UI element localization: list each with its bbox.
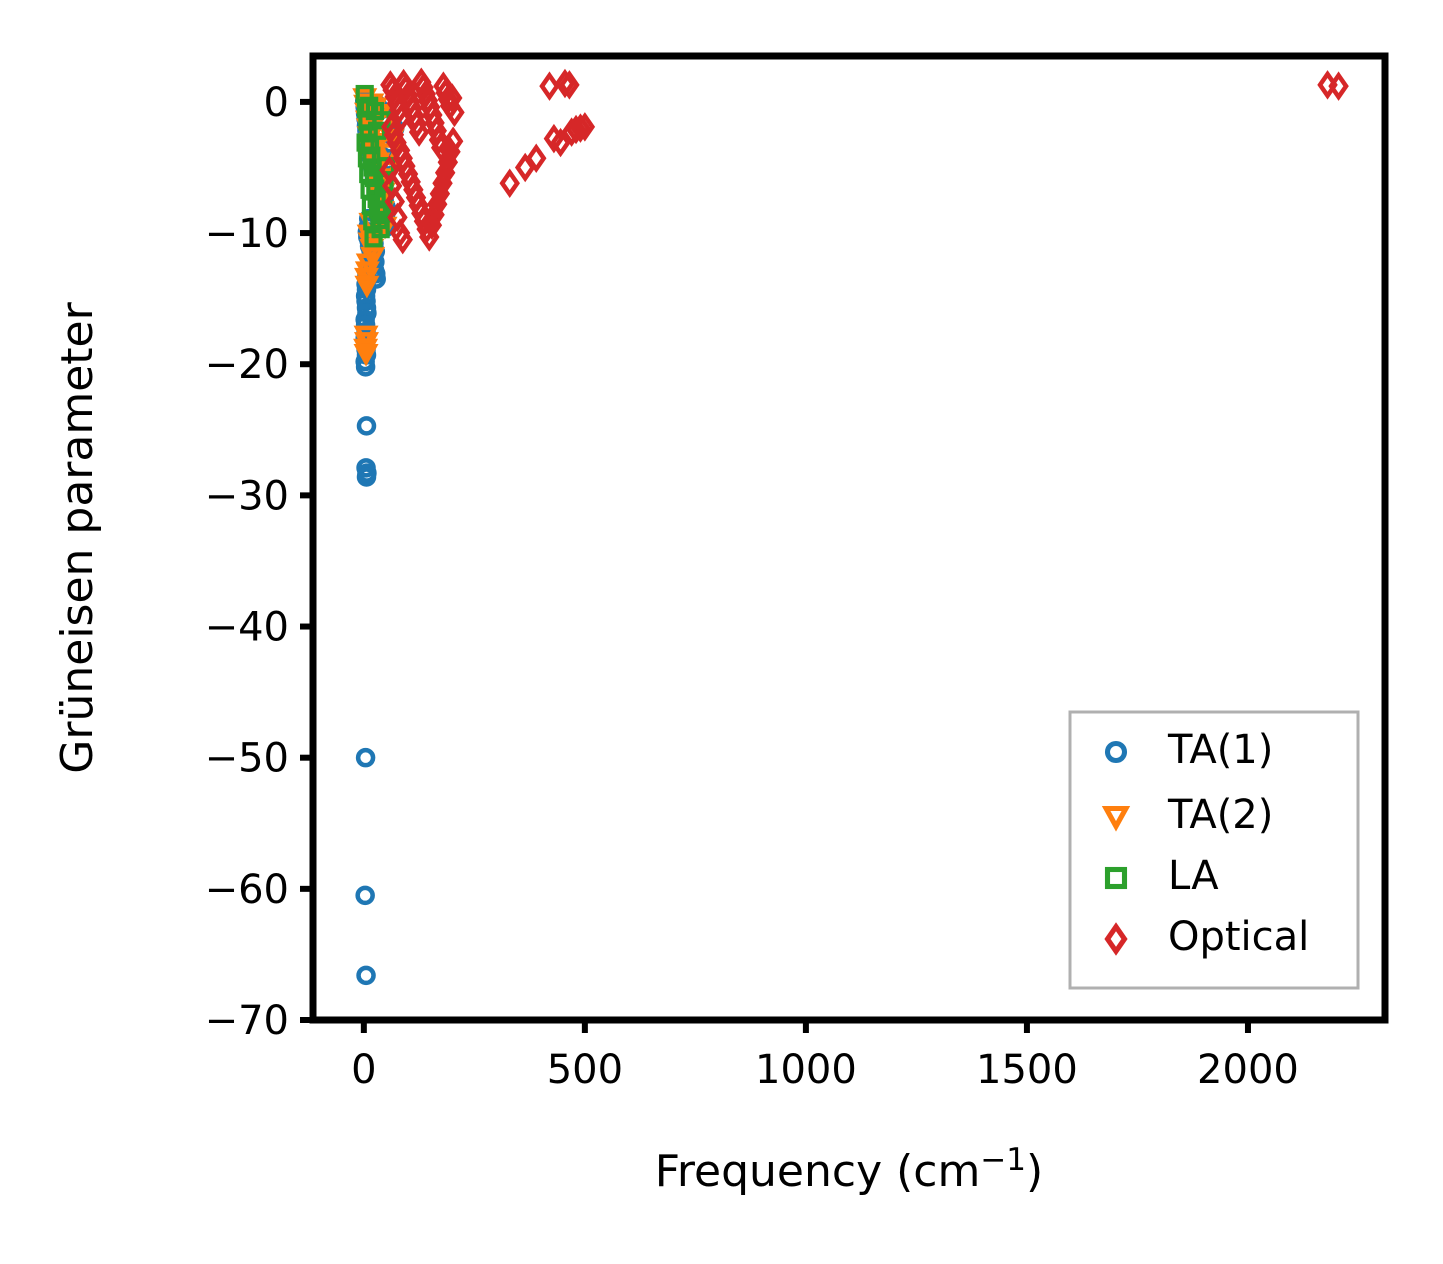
- x-tick-label: 1000: [755, 1047, 857, 1093]
- y-axis-title: Grüneisen parameter: [52, 301, 103, 773]
- figure-canvas: 0500100015002000 0−10−20−30−40−50−60−70 …: [0, 0, 1443, 1264]
- x-axis-title-main: Frequency (cm: [655, 1146, 981, 1197]
- x-axis-tick-labels: 0500100015002000: [351, 1047, 1299, 1093]
- x-tick-label: 500: [547, 1047, 623, 1093]
- legend: TA(1)TA(2)LAOptical: [1070, 712, 1358, 988]
- legend-label: LA: [1168, 853, 1219, 899]
- legend-label: Optical: [1168, 914, 1309, 960]
- legend-label: TA(1): [1167, 727, 1273, 773]
- x-tick-label: 1500: [976, 1047, 1078, 1093]
- y-tick-label: −10: [205, 211, 289, 257]
- scatter-plot: 0500100015002000 0−10−20−30−40−50−60−70 …: [0, 0, 1443, 1264]
- y-tick-label: −40: [205, 605, 289, 651]
- x-axis-title-closeparen: ): [1026, 1146, 1043, 1197]
- y-tick-label: −60: [205, 867, 289, 913]
- x-axis-title: Frequency (cm−1): [655, 1142, 1043, 1197]
- y-tick-label: 0: [264, 80, 289, 126]
- legend-label: TA(2): [1167, 792, 1273, 838]
- x-tick-label: 0: [351, 1047, 376, 1093]
- y-axis-tick-labels: 0−10−20−30−40−50−60−70: [205, 80, 289, 1044]
- y-tick-label: −50: [205, 736, 289, 782]
- y-tick-label: −30: [205, 473, 289, 519]
- x-axis-title-superscript: −1: [980, 1142, 1026, 1178]
- y-tick-label: −70: [205, 998, 289, 1044]
- x-tick-label: 2000: [1197, 1047, 1299, 1093]
- y-tick-label: −20: [205, 342, 289, 388]
